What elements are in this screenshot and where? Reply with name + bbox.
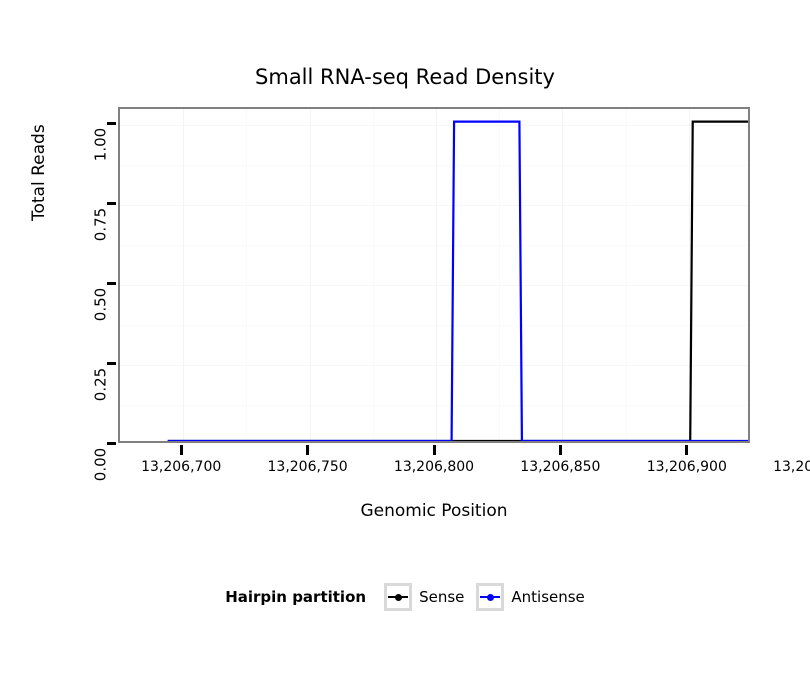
y-tick-label: 0.00 [94, 443, 109, 487]
legend-title: Hairpin partition [225, 588, 366, 606]
key-dot [487, 594, 494, 601]
legend-entry-antisense[interactable]: Antisense [476, 583, 584, 611]
y-tick-label: 1.00 [94, 123, 109, 167]
y-tick-label: 0.25 [94, 363, 109, 407]
series-layer [120, 109, 748, 441]
line-point-key-icon [476, 583, 504, 611]
x-tick-label: 13,206,800 [394, 459, 474, 475]
x-tick-label: 13,206,950 [773, 459, 810, 475]
x-axis-title: Genomic Position [118, 500, 750, 522]
chart-title: Small RNA-seq Read Density [0, 64, 810, 90]
x-tick-mark [306, 445, 309, 455]
x-tick-label: 13,206,850 [520, 459, 600, 475]
y-tick-label: 0.50 [94, 283, 109, 327]
series-line-antisense [168, 122, 748, 441]
x-tick-label: 13,206,750 [268, 459, 348, 475]
plot-panel [118, 107, 750, 443]
x-tick-mark [685, 445, 688, 455]
legend-label-antisense: Antisense [511, 588, 584, 606]
x-tick-mark [180, 445, 183, 455]
legend: Hairpin partition Sense Antisense [0, 583, 810, 611]
key-dot [395, 594, 402, 601]
x-tick-mark [559, 445, 562, 455]
y-tick-label: 0.75 [94, 203, 109, 247]
y-axis-title: Total Reads [29, 199, 49, 221]
x-tick-mark [433, 445, 436, 455]
legend-entry-sense[interactable]: Sense [384, 583, 464, 611]
line-point-key-icon [384, 583, 412, 611]
x-tick-label: 13,206,900 [647, 459, 727, 475]
series-line-sense [168, 122, 748, 441]
legend-label-sense: Sense [419, 588, 464, 606]
x-tick-label: 13,206,700 [141, 459, 221, 475]
